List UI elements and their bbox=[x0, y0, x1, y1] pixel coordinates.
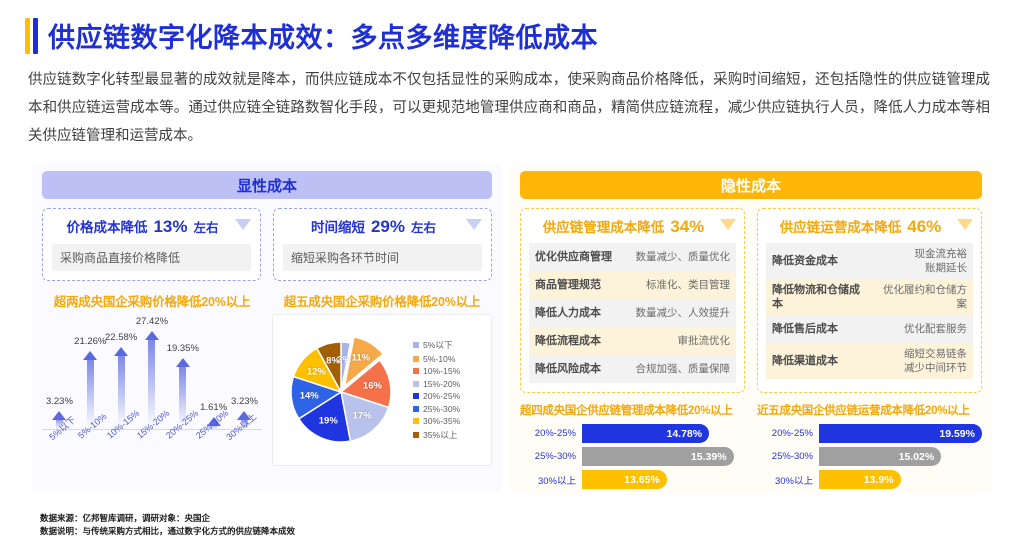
kpi-top: 供应链管理成本降低 34% bbox=[529, 216, 736, 237]
down-triangle-icon bbox=[957, 219, 973, 230]
down-triangle-icon bbox=[720, 219, 736, 230]
bar-value-label: 3.23% bbox=[231, 396, 258, 407]
legend-swatch bbox=[413, 418, 419, 424]
table-row: 降低物流和仓储成本优化履约和仓储方案 bbox=[766, 279, 973, 315]
page-title: 供应链数字化降本成效：多点多维度降低成本 bbox=[48, 16, 598, 55]
table-cell-value: 优化配套服务 bbox=[904, 322, 967, 336]
legend-label: 30%-35% bbox=[423, 416, 460, 426]
kpi-value: 46% bbox=[907, 217, 941, 237]
chart-title: 近五成央国企供应链运营成本降低20%以上 bbox=[757, 402, 982, 418]
table-management: 优化供应商管理数量减少、质量优化商品管理规范标准化、类目管理降低人力成本数量减少… bbox=[529, 243, 736, 383]
kpi-suffix: 左右 bbox=[411, 217, 436, 236]
kpi-value: 34% bbox=[670, 217, 704, 237]
legend-item: 10%-15% bbox=[413, 366, 460, 376]
legend-swatch bbox=[413, 368, 419, 374]
explicit-cost-panel: 显性成本 价格成本降低 13% 左右 采购商品直接价格降低 时间缩短 29% 左… bbox=[32, 163, 502, 493]
bar-value-label: 27.42% bbox=[136, 316, 168, 327]
down-triangle-icon bbox=[235, 219, 251, 230]
hbar-category-label: 20%-25% bbox=[520, 428, 582, 439]
hbar-track: 15.39% bbox=[582, 447, 745, 466]
page-header: 供应链数字化降本成效：多点多维度降低成本 bbox=[25, 16, 598, 55]
hbar-track: 15.02% bbox=[819, 447, 982, 466]
legend-item: 5%以下 bbox=[413, 339, 460, 351]
bar-value-label: 21.26% bbox=[74, 336, 106, 347]
kpi-top: 时间缩短 29% 左右 bbox=[283, 216, 482, 237]
hbar-chart-operations: 近五成央国企供应链运营成本降低20%以上 20%-25%19.59%25%-30… bbox=[757, 402, 982, 493]
legend-label: 20%-25% bbox=[423, 391, 460, 401]
legend-label: 25%-30% bbox=[423, 404, 460, 414]
explicit-cost-heading: 显性成本 bbox=[42, 171, 492, 199]
accent-bar-orange bbox=[25, 18, 30, 54]
kpi-subtext: 缩短采购各环节时间 bbox=[283, 244, 482, 271]
hbar-bar: 15.39% bbox=[582, 447, 734, 466]
legend-swatch bbox=[413, 356, 419, 362]
legend-item: 20%-25% bbox=[413, 391, 460, 401]
table-cell-key: 商品管理规范 bbox=[535, 278, 601, 292]
table-row: 降低资金成本现金流充裕账期延长 bbox=[766, 243, 973, 279]
table-cell-key: 降低人力成本 bbox=[535, 306, 601, 320]
bar-chart-plot: 3.23%21.26%22.58%27.42%19.35%1.61%3.23% bbox=[42, 314, 262, 430]
hbar-row: 30%以上13.9% bbox=[757, 470, 982, 489]
table-row: 降低流程成本审批流优化 bbox=[529, 327, 736, 355]
hbar-track: 13.65% bbox=[582, 470, 745, 489]
bar-chart-xaxis: 5%以下5%-10%10%-15%15%-20%20%-25%25%-30%30… bbox=[42, 430, 262, 464]
hbar-category-label: 25%-30% bbox=[757, 451, 819, 462]
infographic-page: 供应链数字化降本成效：多点多维度降低成本 供应链数字化转型最显著的成效就是降本，… bbox=[0, 0, 1013, 553]
table-row: 降低风险成本合规加强、质量保障 bbox=[529, 355, 736, 383]
legend-item: 30%-35% bbox=[413, 416, 460, 426]
table-cell-value: 数量减少、质量优化 bbox=[636, 250, 731, 264]
explicit-kpi-row: 价格成本降低 13% 左右 采购商品直接价格降低 时间缩短 29% 左右 缩短采… bbox=[42, 208, 492, 281]
hbar-value-label: 14.78% bbox=[667, 428, 703, 440]
table-cell-value: 合规加强、质量保障 bbox=[636, 362, 731, 376]
kpi-label: 供应链运营成本降低 bbox=[780, 216, 902, 236]
card-supply-chain-operations: 供应链运营成本降低 46% 降低资金成本现金流充裕账期延长降低物流和仓储成本优化… bbox=[757, 208, 982, 393]
hbar-category-label: 30%以上 bbox=[520, 473, 582, 487]
chart-title: 超四成央国企供应链管理成本降低20%以上 bbox=[520, 402, 745, 418]
kpi-top: 供应链运营成本降低 46% bbox=[766, 216, 973, 237]
table-row: 商品管理规范标准化、类目管理 bbox=[529, 271, 736, 299]
legend-label: 5%以下 bbox=[423, 339, 453, 351]
hbar-value-label: 15.39% bbox=[691, 451, 727, 463]
pie-slice-label: 17% bbox=[353, 411, 372, 422]
implicit-cost-panel: 隐性成本 供应链管理成本降低 34% 优化供应商管理数量减少、质量优化商品管理规… bbox=[510, 163, 992, 493]
hbar-bar: 15.02% bbox=[819, 447, 941, 466]
hbar-value-label: 13.9% bbox=[864, 474, 894, 486]
pie-chart-legend: 5%以下5%-10%10%-15%15%-20%20%-25%25%-30%30… bbox=[413, 339, 460, 441]
hbar-value-label: 13.65% bbox=[624, 474, 660, 486]
implicit-tables-row: 供应链管理成本降低 34% 优化供应商管理数量减少、质量优化商品管理规范标准化、… bbox=[520, 208, 982, 393]
pie-slice-label: 12% bbox=[307, 366, 326, 377]
kpi-suffix: 左右 bbox=[194, 217, 219, 236]
chart-title: 超五成央国企采购价格降低20%以上 bbox=[272, 291, 492, 310]
table-cell-value: 现金流充裕账期延长 bbox=[915, 247, 968, 275]
hbar-row: 20%-25%14.78% bbox=[520, 424, 745, 443]
kpi-label: 价格成本降低 bbox=[66, 216, 147, 236]
table-cell-key: 降低资金成本 bbox=[772, 254, 838, 268]
pie-slice-label: 16% bbox=[363, 381, 382, 392]
implicit-cost-heading: 隐性成本 bbox=[520, 171, 982, 199]
hbar-bar: 14.78% bbox=[582, 424, 709, 443]
table-cell-key: 降低售后成本 bbox=[772, 322, 838, 336]
legend-label: 5%-10% bbox=[423, 354, 455, 364]
kpi-label: 时间缩短 bbox=[311, 216, 365, 236]
kpi-card-price-cost: 价格成本降低 13% 左右 采购商品直接价格降低 bbox=[42, 208, 261, 281]
kpi-card-time-reduction: 时间缩短 29% 左右 缩短采购各环节时间 bbox=[273, 208, 492, 281]
table-cell-value: 标准化、类目管理 bbox=[646, 278, 730, 292]
hbar-category-label: 30%以上 bbox=[757, 473, 819, 487]
kpi-label: 供应链管理成本降低 bbox=[543, 216, 665, 236]
card-supply-chain-management: 供应链管理成本降低 34% 优化供应商管理数量减少、质量优化商品管理规范标准化、… bbox=[520, 208, 745, 393]
hbar-track: 14.78% bbox=[582, 424, 745, 443]
legend-label: 15%-20% bbox=[423, 379, 460, 389]
hbar-track: 19.59% bbox=[819, 424, 982, 443]
hbar-value-label: 15.02% bbox=[899, 451, 935, 463]
pie-chart-plot: 3%11%16%17%19%14%12%8% bbox=[279, 326, 407, 454]
hbar-plot: 20%-25%19.59%25%-30%15.02%30%以上13.9% bbox=[757, 424, 982, 489]
bar-chart-purchase-price: 超两成央国企采购价格降低20%以上 3.23%21.26%22.58%27.42… bbox=[42, 291, 262, 466]
kpi-subtext: 采购商品直接价格降低 bbox=[52, 244, 251, 271]
bar-value-label: 19.35% bbox=[167, 343, 199, 354]
pie-slice-label: 11% bbox=[352, 353, 371, 364]
bar-value-label: 22.58% bbox=[105, 332, 137, 343]
bar-chart-body: 3.23%21.26%22.58%27.42%19.35%1.61%3.23% … bbox=[42, 314, 262, 464]
table-cell-key: 降低风险成本 bbox=[535, 362, 601, 376]
accent-bar-blue bbox=[33, 18, 38, 54]
pie-slice-label: 14% bbox=[300, 391, 319, 402]
pie-slice-label: 19% bbox=[319, 416, 338, 427]
hbar-category-label: 20%-25% bbox=[757, 428, 819, 439]
footer-note: 数据说明：与传统采购方式相比，通过数字化方式的供应链降本成效 bbox=[40, 525, 295, 538]
legend-label: 35%以上 bbox=[423, 429, 457, 441]
legend-swatch bbox=[413, 342, 419, 348]
legend-swatch bbox=[413, 381, 419, 387]
table-cell-value: 审批流优化 bbox=[678, 334, 731, 348]
hbar-bar: 13.9% bbox=[819, 470, 901, 489]
table-cell-key: 降低流程成本 bbox=[535, 334, 601, 348]
hbar-row: 20%-25%19.59% bbox=[757, 424, 982, 443]
hbar-row: 25%-30%15.39% bbox=[520, 447, 745, 466]
kpi-top: 价格成本降低 13% 左右 bbox=[52, 216, 251, 237]
table-cell-value: 优化履约和仓储方案 bbox=[875, 283, 967, 311]
hbar-row: 30%以上13.65% bbox=[520, 470, 745, 489]
hbar-bar: 13.65% bbox=[582, 470, 667, 489]
down-triangle-icon bbox=[466, 219, 482, 230]
footer-notes: 数据来源：亿邦智库调研，调研对象：央国企 数据说明：与传统采购方式相比，通过数字… bbox=[40, 512, 295, 538]
table-cell-key: 优化供应商管理 bbox=[535, 250, 612, 264]
legend-item: 35%以上 bbox=[413, 429, 460, 441]
hbar-value-label: 19.59% bbox=[939, 428, 975, 440]
kpi-value: 29% bbox=[371, 217, 405, 237]
table-operations: 降低资金成本现金流充裕账期延长降低物流和仓储成本优化履约和仓储方案降低售后成本优… bbox=[766, 243, 973, 379]
hbar-row: 25%-30%15.02% bbox=[757, 447, 982, 466]
table-cell-key: 降低物流和仓储成本 bbox=[772, 283, 869, 311]
explicit-charts-row: 超两成央国企采购价格降低20%以上 3.23%21.26%22.58%27.42… bbox=[42, 291, 492, 466]
legend-item: 5%-10% bbox=[413, 354, 460, 364]
kpi-value: 13% bbox=[153, 217, 187, 237]
table-row: 优化供应商管理数量减少、质量优化 bbox=[529, 243, 736, 271]
hbar-category-label: 25%-30% bbox=[520, 451, 582, 462]
table-cell-value: 缩短交易链条减少中间环节 bbox=[904, 347, 967, 375]
table-cell-value: 数量减少、人效提升 bbox=[636, 306, 731, 320]
table-row: 降低渠道成本缩短交易链条减少中间环节 bbox=[766, 343, 973, 379]
hbar-plot: 20%-25%14.78%25%-30%15.39%30%以上13.65% bbox=[520, 424, 745, 489]
intro-paragraph: 供应链数字化转型最显著的成效就是降本，而供应链成本不仅包括显性的采购成本，使采购… bbox=[28, 66, 990, 150]
title-accent-bars bbox=[25, 18, 38, 54]
legend-swatch bbox=[413, 406, 419, 412]
hbar-track: 13.9% bbox=[819, 470, 982, 489]
legend-item: 25%-30% bbox=[413, 404, 460, 414]
pie-slice-label: 8% bbox=[326, 356, 340, 367]
pie-chart-body: 3%11%16%17%19%14%12%8% 5%以下5%-10%10%-15%… bbox=[272, 314, 492, 466]
legend-swatch bbox=[413, 393, 419, 399]
implicit-charts-row: 超四成央国企供应链管理成本降低20%以上 20%-25%14.78%25%-30… bbox=[520, 402, 982, 493]
legend-item: 15%-20% bbox=[413, 379, 460, 389]
pie-chart-purchase-price: 超五成央国企采购价格降低20%以上 3%11%16%17%19%14%12%8%… bbox=[272, 291, 492, 466]
table-cell-key: 降低渠道成本 bbox=[772, 354, 838, 368]
legend-swatch bbox=[413, 432, 419, 438]
footer-source: 数据来源：亿邦智库调研，调研对象：央国企 bbox=[40, 512, 295, 525]
hbar-chart-management: 超四成央国企供应链管理成本降低20%以上 20%-25%14.78%25%-30… bbox=[520, 402, 745, 493]
table-row: 降低人力成本数量减少、人效提升 bbox=[529, 299, 736, 327]
hbar-bar: 19.59% bbox=[819, 424, 982, 443]
bar-value-label: 3.23% bbox=[46, 396, 73, 407]
chart-title: 超两成央国企采购价格降低20%以上 bbox=[42, 291, 262, 310]
legend-label: 10%-15% bbox=[423, 366, 460, 376]
table-row: 降低售后成本优化配套服务 bbox=[766, 315, 973, 343]
